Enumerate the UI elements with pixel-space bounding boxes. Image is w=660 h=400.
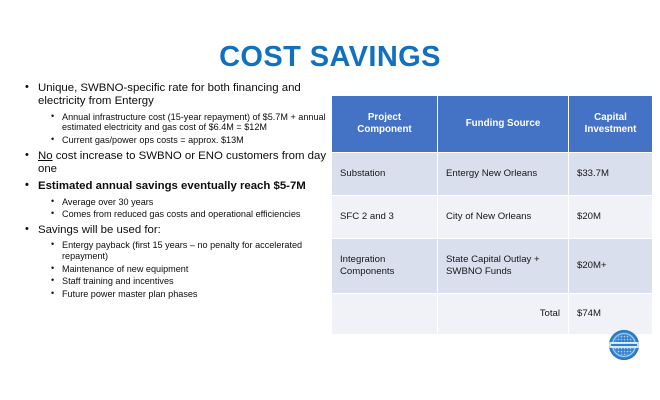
cell-total-label: Total	[438, 294, 569, 335]
table-row: Substation Entergy New Orleans $33.7M	[332, 153, 653, 196]
cell-funding-source: City of New Orleans	[438, 196, 569, 239]
cell-funding-source: Entergy New Orleans	[438, 153, 569, 196]
bullet-level1-estimated-savings: Estimated annual savings eventually reac…	[18, 180, 330, 193]
logo-band	[609, 342, 639, 348]
column-header-funding-source: Funding Source	[438, 96, 569, 153]
bullet-level1: Unique, SWBNO-specific rate for both fin…	[18, 82, 330, 109]
cell-capital-investment: $20M+	[569, 239, 653, 294]
bullet-level2: Comes from reduced gas costs and operati…	[18, 209, 330, 220]
cell-component: SFC 2 and 3	[332, 196, 438, 239]
table-row: SFC 2 and 3 City of New Orleans $20M	[332, 196, 653, 239]
bullet-level2: Average over 30 years	[18, 197, 330, 208]
bullet-level2: Future power master plan phases	[18, 289, 330, 300]
page-title: COST SAVINGS	[0, 42, 660, 72]
bullet-underlined-word: No	[38, 150, 53, 162]
table-row-total: Total $74M	[332, 294, 653, 335]
cell-component-empty	[332, 294, 438, 335]
cell-funding-source: State Capital Outlay + SWBNO Funds	[438, 239, 569, 294]
bullet-list: Unique, SWBNO-specific rate for both fin…	[18, 82, 330, 303]
column-header-capital-investment: Capital Investment	[569, 96, 653, 153]
table-row: Integration Components State Capital Out…	[332, 239, 653, 294]
bullet-level1-no-cost-increase: No cost increase to SWBNO or ENO custome…	[18, 150, 330, 177]
bullet-level2: Current gas/power ops costs = approx. $1…	[18, 135, 330, 146]
column-header-project-component: Project Component	[332, 96, 438, 153]
cell-capital-investment: $20M	[569, 196, 653, 239]
bullet-level2: Annual infrastructure cost (15-year repa…	[18, 112, 330, 133]
bullet-level2: Entergy payback (first 15 years – no pen…	[18, 240, 330, 261]
cell-component: Substation	[332, 153, 438, 196]
bullet-level2: Maintenance of new equipment	[18, 264, 330, 275]
bullet-text-rest: cost increase to SWBNO or ENO customers …	[38, 150, 326, 175]
swbno-water-meter-logo-icon	[609, 330, 639, 360]
cell-component: Integration Components	[332, 239, 438, 294]
bullet-level2: Staff training and incentives	[18, 276, 330, 287]
cell-total-value: $74M	[569, 294, 653, 335]
table-header-row: Project Component Funding Source Capital…	[332, 96, 653, 153]
capital-investment-table: Project Component Funding Source Capital…	[331, 95, 653, 335]
cell-capital-investment: $33.7M	[569, 153, 653, 196]
bullet-level1-savings-used-for: Savings will be used for:	[18, 224, 330, 237]
